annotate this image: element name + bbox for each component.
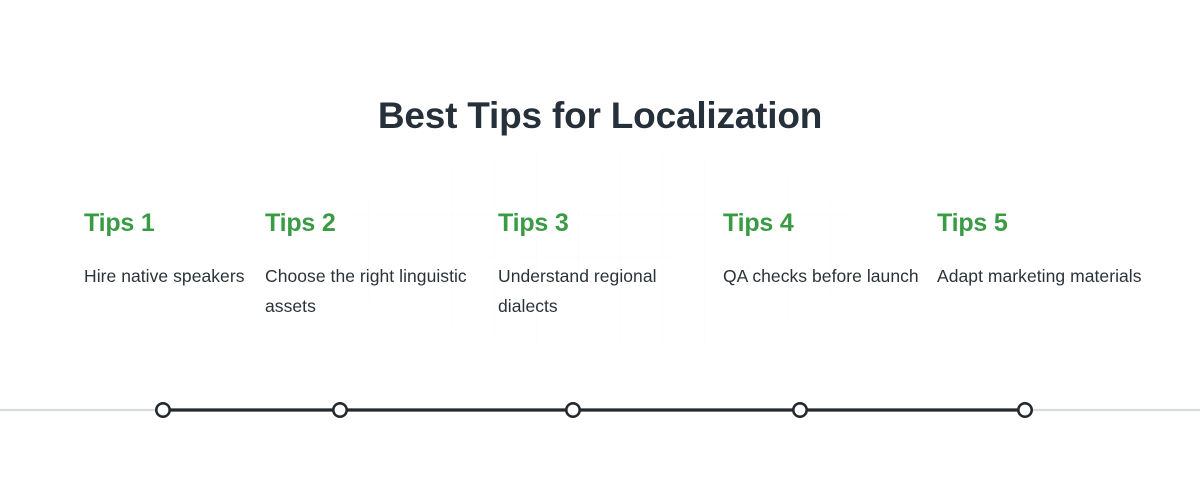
timeline-marker-1[interactable] bbox=[156, 403, 169, 416]
timeline-marker-3[interactable] bbox=[566, 403, 579, 416]
timeline-graphic bbox=[0, 0, 1200, 499]
timeline-marker-2[interactable] bbox=[333, 403, 346, 416]
timeline-marker-4[interactable] bbox=[793, 403, 806, 416]
timeline-marker-5[interactable] bbox=[1018, 403, 1031, 416]
infographic-canvas: Best Tips for Localization Tips 1 Hire n… bbox=[0, 0, 1200, 499]
